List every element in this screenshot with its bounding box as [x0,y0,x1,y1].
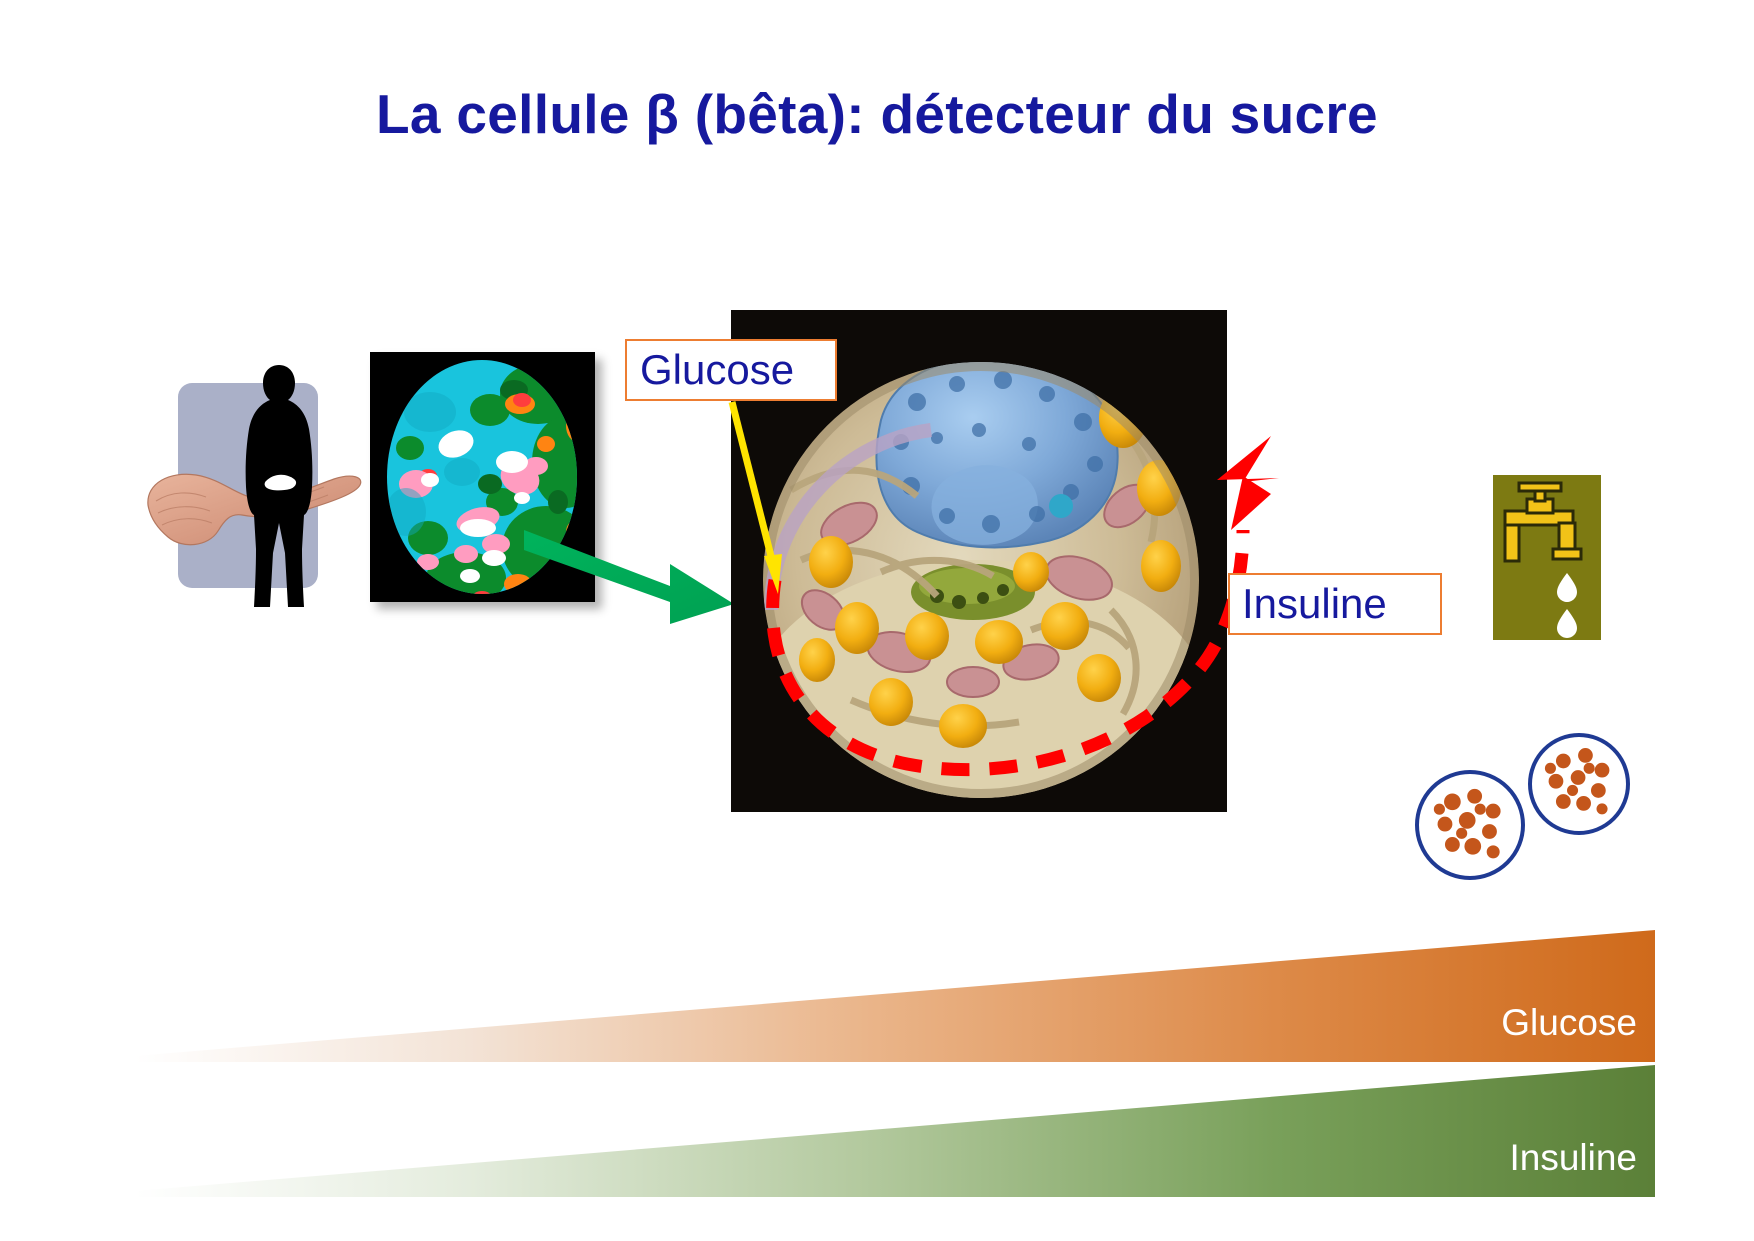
glucose-leader-line [720,398,810,598]
glucose-callout-box[interactable]: Glucose [625,339,837,401]
insuline-callout-box[interactable]: Insuline [1228,573,1442,635]
pancreas-body-figure [150,355,400,615]
human-body-silhouette [236,363,322,613]
insulin-vesicle-right [1528,733,1630,835]
insuline-level-bar [135,1065,1655,1197]
insulin-vesicle-left [1415,770,1525,880]
insuline-callout-label: Insuline [1242,580,1387,628]
page-title: La cellule β (bêta): détecteur du sucre [0,82,1754,146]
slide-canvas: La cellule β (bêta): détecteur du sucre [0,0,1754,1241]
faucet-tap-icon [1493,475,1601,640]
glucose-level-bar [135,930,1655,1062]
glucose-callout-label: Glucose [640,346,794,394]
